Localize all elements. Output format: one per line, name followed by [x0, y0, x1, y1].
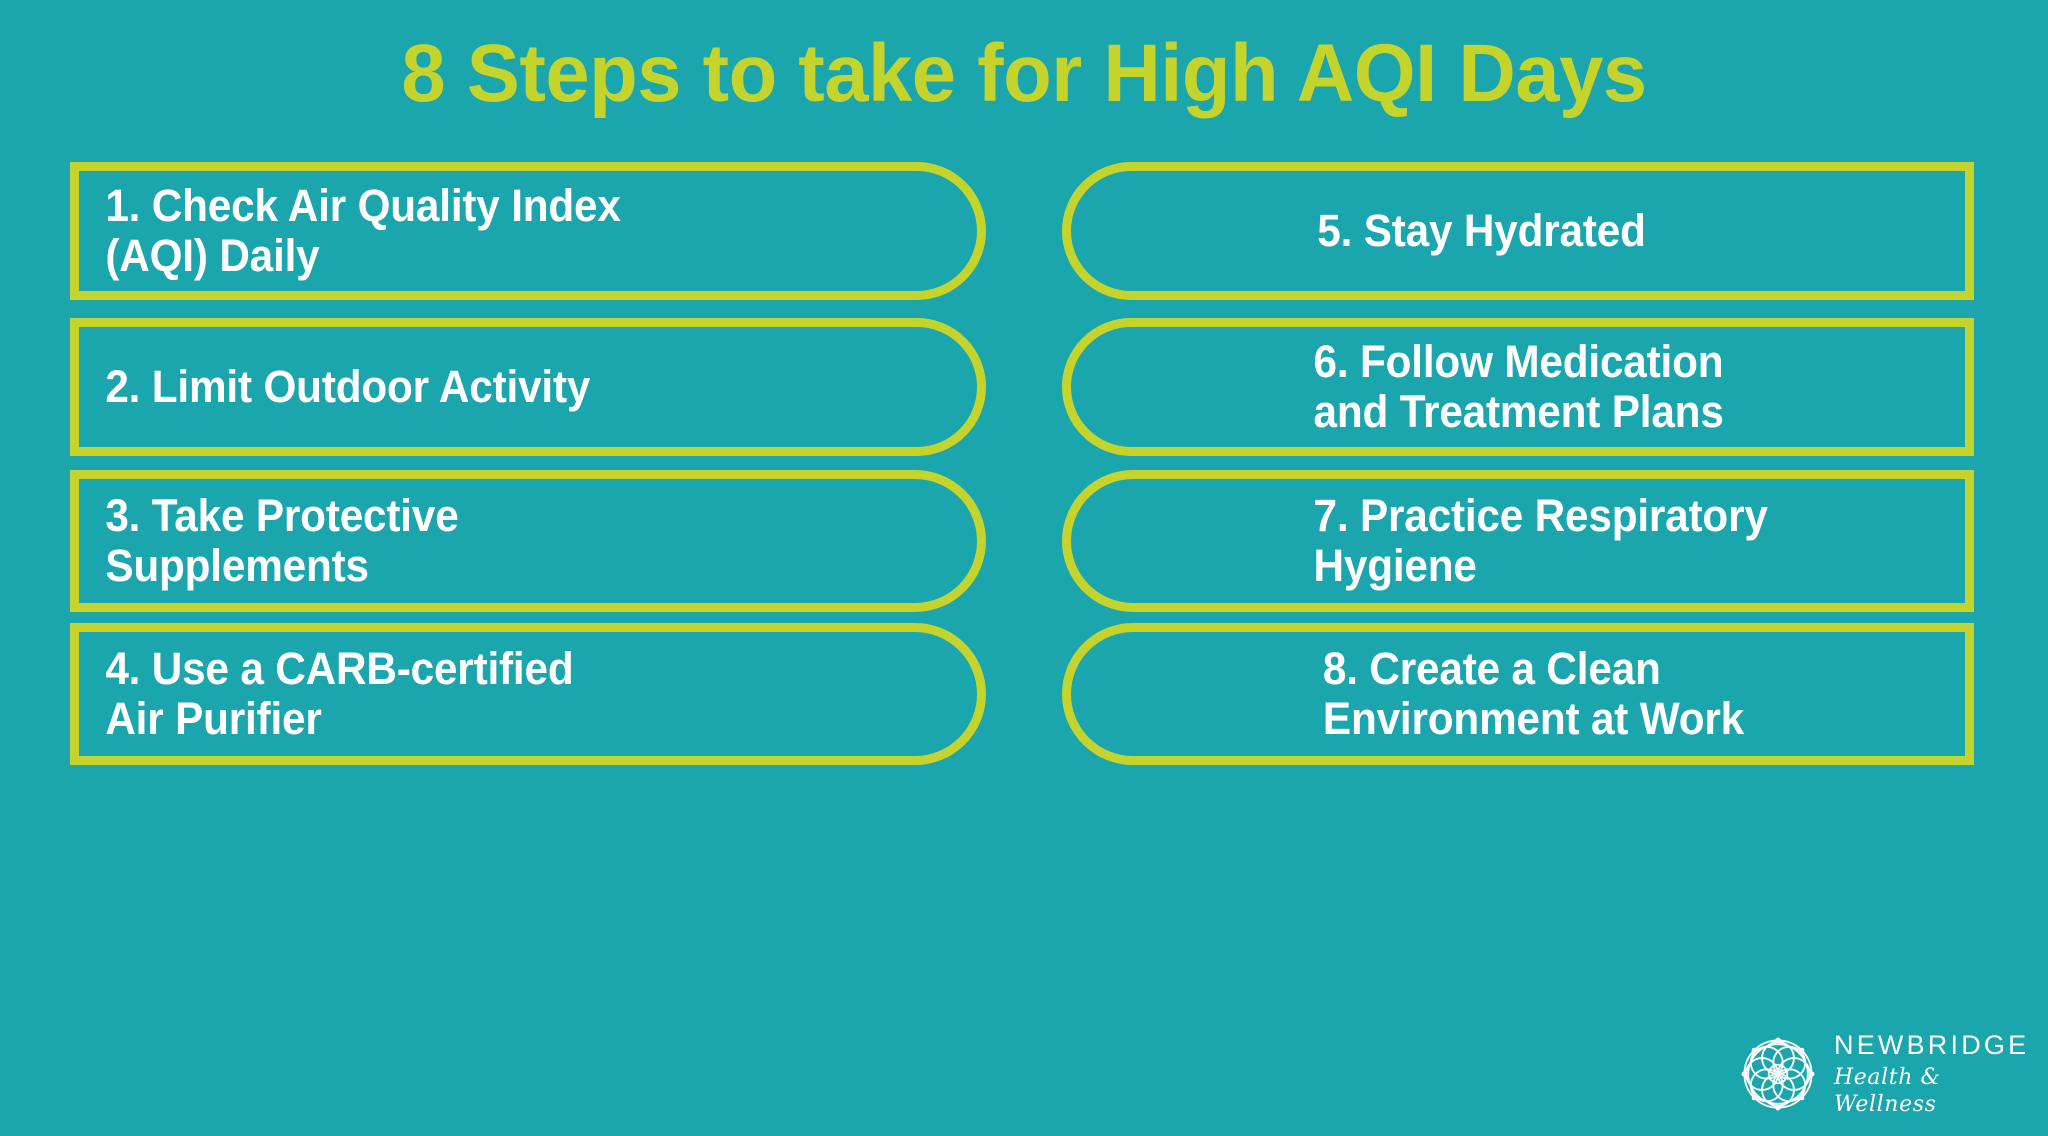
step-card-1-label: 1. Check Air Quality Index (AQI) Daily [79, 181, 621, 282]
step-card-5[interactable]: 5. Stay Hydrated [1062, 162, 1974, 300]
logo-name: NEWBRIDGE [1834, 1032, 2029, 1059]
step-card-8[interactable]: 8. Create a Clean Environment at Work [1062, 623, 1974, 765]
infographic-poster: 8 Steps to take for High AQI Days 1. Che… [0, 0, 2048, 1136]
step-card-7[interactable]: 7. Practice Respiratory Hygiene [1062, 470, 1974, 612]
logo-wordmark: NEWBRIDGE Health & Wellness [1834, 1030, 2029, 1119]
logo-tagline: Health & Wellness [1834, 1064, 2029, 1119]
step-card-8-label: 8. Create a Clean Environment at Work [1071, 644, 1744, 745]
step-card-3-label: 3. Take Protective Supplements [79, 491, 459, 592]
step-card-6[interactable]: 6. Follow Medication and Treatment Plans [1062, 318, 1974, 456]
brand-logo: NEWBRIDGE Health & Wellness [1736, 1030, 2028, 1118]
mandala-flower-icon [1736, 1032, 1820, 1116]
steps-grid: 1. Check Air Quality Index (AQI) Daily 2… [0, 0, 2048, 1136]
step-card-7-label: 7. Practice Respiratory Hygiene [1071, 491, 1768, 592]
step-card-4-label: 4. Use a CARB-certified Air Purifier [79, 644, 573, 745]
step-card-4[interactable]: 4. Use a CARB-certified Air Purifier [70, 623, 986, 765]
step-card-2-label: 2. Limit Outdoor Activity [79, 362, 590, 412]
step-card-2[interactable]: 2. Limit Outdoor Activity [70, 318, 986, 456]
step-card-6-label: 6. Follow Medication and Treatment Plans [1071, 337, 1724, 438]
step-card-3[interactable]: 3. Take Protective Supplements [70, 470, 986, 612]
step-card-1[interactable]: 1. Check Air Quality Index (AQI) Daily [70, 162, 986, 300]
step-card-5-label: 5. Stay Hydrated [1071, 206, 1646, 256]
